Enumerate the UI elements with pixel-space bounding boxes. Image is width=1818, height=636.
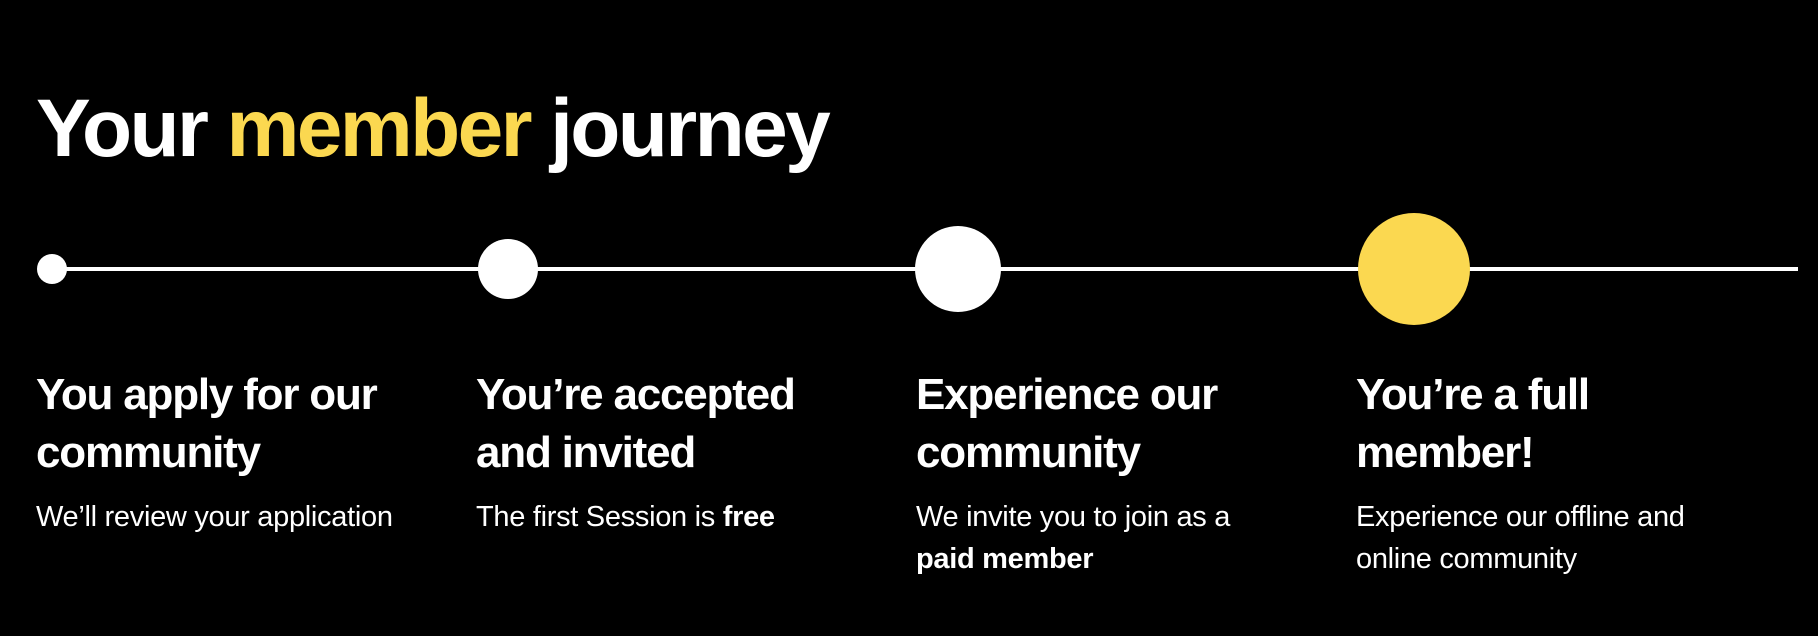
journey-timeline: [0, 180, 1818, 360]
page-title-part-1: Your: [36, 83, 226, 174]
step-description: The first Session is free: [476, 496, 856, 538]
step-title: Experience our community: [916, 366, 1296, 482]
page-title: Your member journey: [36, 81, 828, 177]
step-dot-1[interactable]: [37, 254, 67, 284]
step-dot-2[interactable]: [478, 239, 538, 299]
step-description-text: Experience our offline and online commun…: [1356, 501, 1685, 575]
journey-step-4: You’re a full member! Experience our off…: [1356, 366, 1796, 580]
step-description-emphasis: free: [723, 501, 775, 533]
step-description-text: We invite you to join as a: [916, 501, 1230, 533]
member-journey-section: Your member journey You apply for our co…: [0, 0, 1818, 636]
step-dot-4[interactable]: [1358, 213, 1470, 325]
step-description: We’ll review your application: [36, 496, 416, 538]
step-description: We invite you to join as a paid member: [916, 496, 1296, 580]
journey-steps: You apply for our community We’ll review…: [36, 366, 1818, 580]
journey-step-3: Experience our community We invite you t…: [916, 366, 1356, 580]
step-description: Experience our offline and online commun…: [1356, 496, 1736, 580]
step-title: You’re accepted and invited: [476, 366, 856, 482]
step-title: You apply for our community: [36, 366, 416, 482]
step-description-emphasis: paid member: [916, 543, 1093, 575]
journey-step-2: You’re accepted and invited The first Se…: [476, 366, 916, 580]
page-title-accent-word: member: [226, 83, 529, 174]
page-title-part-2: journey: [530, 83, 828, 174]
step-title: You’re a full member!: [1356, 366, 1736, 482]
journey-step-1: You apply for our community We’ll review…: [36, 366, 476, 580]
step-description-text: The first Session is: [476, 501, 723, 533]
step-dot-3[interactable]: [915, 226, 1001, 312]
step-description-text: We’ll review your application: [36, 501, 393, 533]
